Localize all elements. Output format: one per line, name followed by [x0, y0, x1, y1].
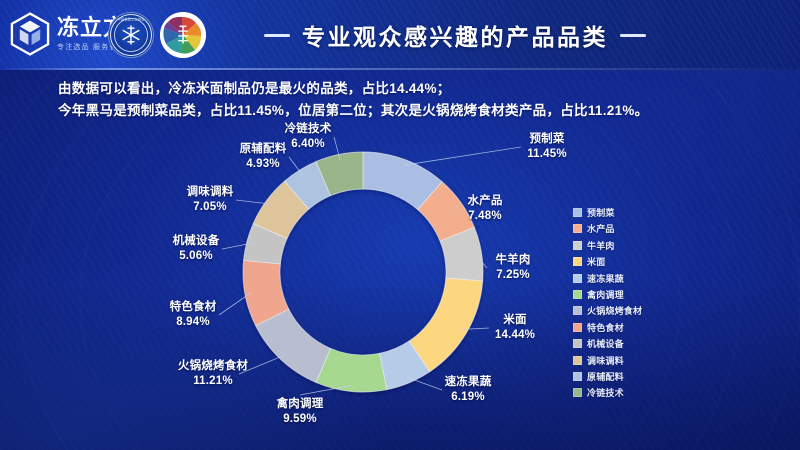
- donut-label-name: 机械设备: [151, 234, 241, 249]
- legend-swatch: [573, 208, 582, 217]
- legend-item[interactable]: 牛羊肉: [573, 239, 642, 252]
- donut-label: 禽肉调理9.59%: [255, 397, 345, 427]
- donut-label-name: 火锅烧烤食材: [168, 359, 258, 374]
- legend-swatch: [573, 290, 582, 299]
- title-dash-right: [620, 34, 646, 37]
- description-line-1: 由数据可以看出，冷冻米面制品仍是最火的品类，占比14.44%；: [58, 78, 758, 100]
- title-block: 专业观众感兴趣的产品品类: [0, 0, 800, 70]
- donut-label-percent: 5.06%: [151, 249, 241, 264]
- legend-label: 速冻果蔬: [587, 272, 624, 285]
- legend-item[interactable]: 原辅配料: [573, 370, 642, 383]
- legend-label: 禽肉调理: [587, 288, 624, 301]
- legend-label: 牛羊肉: [587, 239, 615, 252]
- donut-label-percent: 11.45%: [502, 147, 592, 162]
- donut-label-percent: 7.48%: [440, 209, 530, 224]
- donut-label-percent: 7.05%: [165, 200, 255, 215]
- donut-label-percent: 9.59%: [255, 412, 345, 427]
- legend-item[interactable]: 火锅烧烤食材: [573, 304, 642, 317]
- donut-label-name: 调味调料: [165, 185, 255, 200]
- header-bar: 冻立方® 专注选品 服务餐饮 中国食品工业协会: [0, 0, 800, 70]
- legend-item[interactable]: 米面: [573, 255, 642, 268]
- donut-label-percent: 4.93%: [218, 157, 308, 172]
- legend-item[interactable]: 特色食材: [573, 321, 642, 334]
- donut-label-name: 预制菜: [502, 132, 592, 147]
- donut-label: 调味调料7.05%: [165, 185, 255, 215]
- donut-chart: 预制菜11.45%水产品7.48%牛羊肉7.25%米面14.44%速冻果蔬6.1…: [120, 118, 580, 438]
- legend-swatch: [573, 388, 582, 397]
- legend-item[interactable]: 预制菜: [573, 206, 642, 219]
- donut-label: 速冻果蔬6.19%: [423, 375, 513, 405]
- donut-label-name: 速冻果蔬: [423, 375, 513, 390]
- donut-label-percent: 6.19%: [423, 390, 513, 405]
- donut-label: 水产品7.48%: [440, 194, 530, 224]
- legend-label: 预制菜: [587, 206, 615, 219]
- legend-label: 米面: [587, 255, 605, 268]
- donut-label-name: 米面: [470, 313, 560, 328]
- legend-item[interactable]: 速冻果蔬: [573, 272, 642, 285]
- donut-label-name: 牛羊肉: [468, 253, 558, 268]
- donut-segment-group: [243, 152, 483, 392]
- legend-label: 原辅配料: [587, 370, 624, 383]
- legend-label: 调味调料: [587, 354, 624, 367]
- page-title: 专业观众感兴趣的产品品类: [302, 18, 608, 52]
- legend-swatch: [573, 356, 582, 365]
- legend-item[interactable]: 禽肉调理: [573, 288, 642, 301]
- legend-item[interactable]: 水产品: [573, 222, 642, 235]
- legend-swatch: [573, 339, 582, 348]
- legend-swatch: [573, 274, 582, 283]
- donut-label-name: 水产品: [440, 194, 530, 209]
- legend-item[interactable]: 调味调料: [573, 354, 642, 367]
- donut-label-percent: 11.21%: [168, 374, 258, 389]
- donut-label: 火锅烧烤食材11.21%: [168, 359, 258, 389]
- donut-label: 预制菜11.45%: [502, 132, 592, 162]
- donut-label-name: 冷链技术: [263, 122, 353, 137]
- title-dash-left: [264, 34, 290, 37]
- donut-label-percent: 8.94%: [148, 315, 238, 330]
- donut-label: 牛羊肉7.25%: [468, 253, 558, 283]
- donut-label: 米面14.44%: [470, 313, 560, 343]
- legend-swatch: [573, 224, 582, 233]
- header-divider: [0, 68, 800, 70]
- legend-label: 机械设备: [587, 337, 624, 350]
- legend-swatch: [573, 372, 582, 381]
- donut-label-percent: 14.44%: [470, 328, 560, 343]
- legend-swatch: [573, 323, 582, 332]
- donut-label: 机械设备5.06%: [151, 234, 241, 264]
- legend-swatch: [573, 257, 582, 266]
- donut-label-name: 特色食材: [148, 300, 238, 315]
- donut-label: 特色食材8.94%: [148, 300, 238, 330]
- donut-label-name: 禽肉调理: [255, 397, 345, 412]
- chart-legend: 预制菜水产品牛羊肉米面速冻果蔬禽肉调理火锅烧烤食材特色食材机械设备调味调料原辅配…: [573, 206, 642, 399]
- legend-label: 特色食材: [587, 321, 624, 334]
- legend-item[interactable]: 冷链技术: [573, 386, 642, 399]
- donut-label-percent: 7.25%: [468, 268, 558, 283]
- legend-swatch: [573, 241, 582, 250]
- legend-swatch: [573, 306, 582, 315]
- description-text: 由数据可以看出，冷冻米面制品仍是最火的品类，占比14.44%； 今年黑马是预制菜…: [58, 78, 758, 122]
- legend-label: 火锅烧烤食材: [587, 304, 642, 317]
- slide-canvas: 冻立方® 专注选品 服务餐饮 中国食品工业协会: [0, 0, 800, 450]
- legend-label: 水产品: [587, 222, 615, 235]
- donut-label: 冷链技术6.40%: [263, 122, 353, 152]
- legend-item[interactable]: 机械设备: [573, 337, 642, 350]
- legend-label: 冷链技术: [587, 386, 624, 399]
- donut-label-percent: 6.40%: [263, 137, 353, 152]
